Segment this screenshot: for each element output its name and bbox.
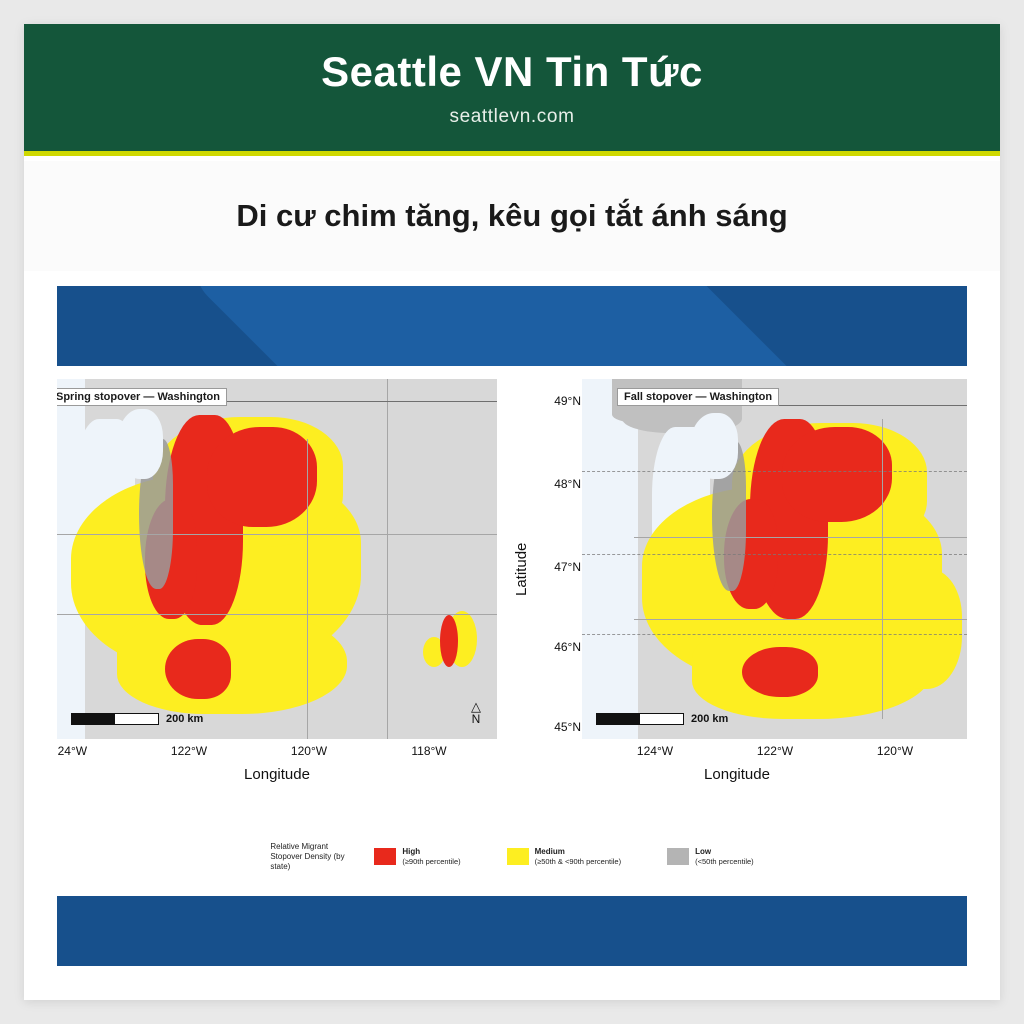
county-border — [387, 379, 388, 739]
panel-title-fall: Fall stopover — Washington — [617, 388, 779, 406]
x-axis-label-spring: Longitude — [57, 766, 497, 783]
legend-item-medium: Medium (≥50th & <90th percentile) — [507, 847, 621, 867]
y-axis-fall: 49°N 48°N 47°N 46°N 45°N — [535, 379, 581, 739]
scale-bar-graphic — [71, 713, 159, 725]
y-tick: 47°N — [554, 560, 581, 574]
legend-title: Relative Migrant Stopover Density (by st… — [270, 842, 362, 872]
latitude-gridline — [582, 554, 967, 555]
headline-band: Di cư chim tăng, kêu gọi tắt ánh sáng — [24, 161, 1000, 271]
legend-swatch-medium — [507, 848, 529, 865]
x-tick: 120°W — [291, 744, 327, 758]
county-border — [634, 619, 967, 620]
ocean-west — [582, 379, 638, 739]
page-title: Di cư chim tăng, kêu gọi tắt ánh sáng — [236, 198, 787, 234]
y-tick: 49°N — [554, 394, 581, 408]
map-plot-fall: 200 km — [582, 379, 967, 739]
high-density-area — [440, 615, 458, 667]
map-panel-fall: 49°N 48°N 47°N 46°N 45°N Latitude — [507, 366, 967, 818]
puget-sound-detail — [117, 409, 163, 479]
x-tick: 118°W — [411, 744, 446, 758]
legend-label-low-title: Low — [695, 847, 754, 857]
medium-density-area — [882, 569, 962, 689]
north-arrow-label: N — [471, 713, 481, 725]
site-title: Seattle VN Tin Tức — [24, 24, 1000, 94]
panel-title-spring: Spring stopover — Washington — [57, 388, 227, 406]
county-border — [57, 614, 497, 615]
map-panel-spring: 200 km △ N Spring stopover — Washington … — [57, 366, 507, 818]
x-tick: 122°W — [757, 744, 793, 758]
legend-label-medium-sub: (≥50th & <90th percentile) — [535, 857, 621, 866]
north-arrow-icon: △ N — [471, 700, 481, 725]
county-border — [307, 439, 308, 739]
scale-bar-label: 200 km — [166, 713, 203, 725]
x-tick: 120°W — [877, 744, 913, 758]
x-axis-label-fall: Longitude — [507, 766, 967, 783]
scale-bar-graphic — [596, 713, 684, 725]
county-border — [57, 534, 497, 535]
x-tick: 124°W — [57, 744, 87, 758]
county-border — [634, 537, 967, 538]
county-border — [882, 419, 883, 719]
high-density-area — [165, 639, 231, 699]
legend-label-high-title: High — [402, 847, 460, 857]
latitude-gridline — [582, 634, 967, 635]
legend-label-low: Low (<50th percentile) — [695, 847, 754, 867]
article-card: Seattle VN Tin Tức seattlevn.com Di cư c… — [24, 24, 1000, 1000]
site-url: seattlevn.com — [24, 94, 1000, 128]
legend-label-medium-title: Medium — [535, 847, 621, 857]
legend-swatch-low — [667, 848, 689, 865]
map-legend: Relative Migrant Stopover Density (by st… — [57, 818, 967, 896]
scale-bar-fall: 200 km — [596, 713, 728, 725]
scale-bar-spring: 200 km — [71, 713, 203, 725]
high-density-area — [207, 427, 317, 527]
site-header: Seattle VN Tin Tức seattlevn.com — [24, 24, 1000, 156]
y-tick: 48°N — [554, 477, 581, 491]
legend-label-low-sub: (<50th percentile) — [695, 857, 754, 866]
puget-sound-detail — [690, 413, 738, 479]
high-density-area — [782, 427, 892, 522]
x-tick: 124°W — [637, 744, 673, 758]
scale-bar-label: 200 km — [691, 713, 728, 725]
y-tick: 46°N — [554, 640, 581, 654]
legend-label-high-sub: (≥90th percentile) — [402, 857, 460, 866]
legend-item-low: Low (<50th percentile) — [667, 847, 754, 867]
legend-label-high: High (≥90th percentile) — [402, 847, 460, 867]
medium-density-area — [117, 609, 347, 714]
legend-item-high: High (≥90th percentile) — [374, 847, 460, 867]
high-density-area — [742, 647, 818, 697]
figure-container: 200 km △ N Spring stopover — Washington … — [57, 286, 967, 966]
legend-label-medium: Medium (≥50th & <90th percentile) — [535, 847, 621, 867]
y-axis-label-fall: Latitude — [513, 543, 530, 596]
x-tick: 122°W — [171, 744, 207, 758]
map-plot-spring: 200 km △ N — [57, 379, 497, 739]
map-panels: 200 km △ N Spring stopover — Washington … — [57, 366, 967, 818]
figure-canvas: 200 km △ N Spring stopover — Washington … — [57, 366, 967, 896]
legend-swatch-high — [374, 848, 396, 865]
latitude-gridline — [582, 471, 967, 472]
y-tick: 45°N — [554, 720, 581, 734]
